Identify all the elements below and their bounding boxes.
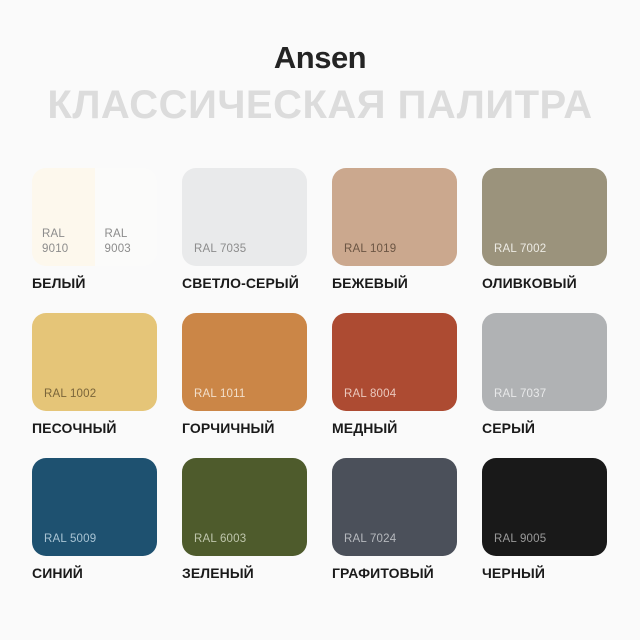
ral-code: RAL 9010 [42,227,68,256]
color-swatch[interactable]: RAL 6003 [182,458,307,556]
ral-code: RAL 6003 [194,532,246,546]
color-swatch-cell[interactable]: RAL 1002ПЕСОЧНЫЙ [32,313,157,436]
color-swatch[interactable]: RAL 9010RAL 9003 [32,168,157,266]
color-name-label: ЗЕЛЕНЫЙ [182,565,307,581]
color-swatch[interactable]: RAL 7037 [482,313,607,411]
color-name-label: ЧЕРНЫЙ [482,565,607,581]
color-name-label: ПЕСОЧНЫЙ [32,420,157,436]
ral-code: RAL 5009 [44,532,96,546]
color-swatch-cell[interactable]: RAL 9010RAL 9003БЕЛЫЙ [32,168,157,291]
ral-code: RAL 8004 [344,387,396,401]
color-swatch[interactable]: RAL 7002 [482,168,607,266]
palette-page: Ansen КЛАССИЧЕСКАЯ ПАЛИТРА RAL 9010RAL 9… [0,0,640,640]
color-name-label: БЕЛЫЙ [32,275,157,291]
color-swatch-cell[interactable]: RAL 7037СЕРЫЙ [482,313,607,436]
color-swatch-half[interactable]: RAL 9003 [95,168,158,266]
color-swatch[interactable]: RAL 1011 [182,313,307,411]
color-swatch[interactable]: RAL 7024 [332,458,457,556]
color-swatch[interactable]: RAL 8004 [332,313,457,411]
color-swatch-cell[interactable]: RAL 6003ЗЕЛЕНЫЙ [182,458,307,581]
ral-code: RAL 9005 [494,532,546,546]
color-name-label: БЕЖЕВЫЙ [332,275,457,291]
color-name-label: СИНИЙ [32,565,157,581]
color-swatch-cell[interactable]: RAL 7002ОЛИВКОВЫЙ [482,168,607,291]
color-swatch-cell[interactable]: RAL 7024ГРАФИТОВЫЙ [332,458,457,581]
ral-code: RAL 9003 [105,227,131,256]
color-name-label: СВЕТЛО-СЕРЫЙ [182,275,307,291]
color-swatch-cell[interactable]: RAL 9005ЧЕРНЫЙ [482,458,607,581]
color-swatch[interactable]: RAL 1002 [32,313,157,411]
color-swatch[interactable]: RAL 5009 [32,458,157,556]
color-name-label: МЕДНЫЙ [332,420,457,436]
ral-code: RAL 7035 [194,242,246,256]
color-swatch[interactable]: RAL 7035 [182,168,307,266]
ral-code: RAL 1019 [344,242,396,256]
brand-logo: Ansen [0,40,640,76]
color-name-label: ОЛИВКОВЫЙ [482,275,607,291]
ral-code: RAL 7037 [494,387,546,401]
color-swatch-cell[interactable]: RAL 1019БЕЖЕВЫЙ [332,168,457,291]
color-swatch-cell[interactable]: RAL 1011ГОРЧИЧНЫЙ [182,313,307,436]
color-name-label: ГРАФИТОВЫЙ [332,565,457,581]
color-swatch[interactable]: RAL 1019 [332,168,457,266]
color-name-label: СЕРЫЙ [482,420,607,436]
color-swatch-grid: RAL 9010RAL 9003БЕЛЫЙRAL 7035СВЕТЛО-СЕРЫ… [32,168,640,581]
ral-code: RAL 1002 [44,387,96,401]
color-name-label: ГОРЧИЧНЫЙ [182,420,307,436]
color-swatch-cell[interactable]: RAL 8004МЕДНЫЙ [332,313,457,436]
color-swatch-cell[interactable]: RAL 5009СИНИЙ [32,458,157,581]
color-swatch[interactable]: RAL 9005 [482,458,607,556]
color-swatch-half[interactable]: RAL 9010 [32,168,95,266]
page-title: КЛАССИЧЕСКАЯ ПАЛИТРА [47,83,592,128]
ral-code: RAL 7002 [494,242,546,256]
ral-code: RAL 1011 [194,387,245,401]
color-swatch-cell[interactable]: RAL 7035СВЕТЛО-СЕРЫЙ [182,168,307,291]
ral-code: RAL 7024 [344,532,396,546]
